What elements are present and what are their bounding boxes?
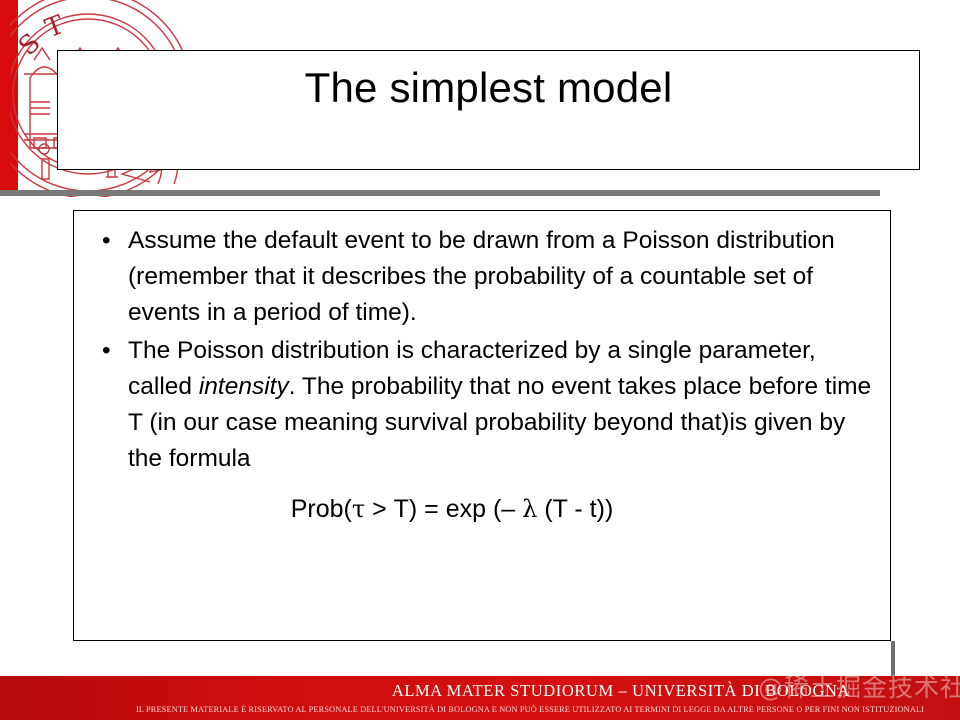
list-item: The Poisson distribution is characterize…	[88, 333, 876, 477]
list-item: Assume the default event to be drawn fro…	[88, 223, 876, 331]
formula-middle: > T) = exp (–	[365, 495, 522, 523]
slide-title-box: The simplest model	[57, 50, 920, 170]
formula-prefix: Prob(	[291, 495, 352, 523]
lambda-symbol: λ	[522, 495, 537, 523]
page-title: The simplest model	[305, 51, 673, 109]
tau-symbol: τ	[352, 495, 365, 523]
footer-bar: ALMA MATER STUDIORUM – UNIVERSITÀ DI BOL…	[0, 676, 960, 720]
title-divider	[0, 190, 880, 196]
bullet-text-1: Assume the default event to be drawn fro…	[128, 227, 835, 326]
slide-content-box: Assume the default event to be drawn fro…	[73, 210, 891, 641]
bullet-text-2: The Poisson distribution is characterize…	[128, 337, 871, 472]
bullet-list: Assume the default event to be drawn fro…	[88, 223, 876, 477]
footer-institution: ALMA MATER STUDIORUM – UNIVERSITÀ DI BOL…	[392, 681, 850, 701]
formula-suffix: (T - t))	[537, 495, 613, 523]
emphasis-intensity: intensity	[199, 373, 289, 400]
formula-line: Prob(τ > T) = exp (– λ (T - t))	[88, 491, 876, 527]
footer-disclaimer: IL PRESENTE MATERIALE È RISERVATO AL PER…	[136, 705, 924, 714]
